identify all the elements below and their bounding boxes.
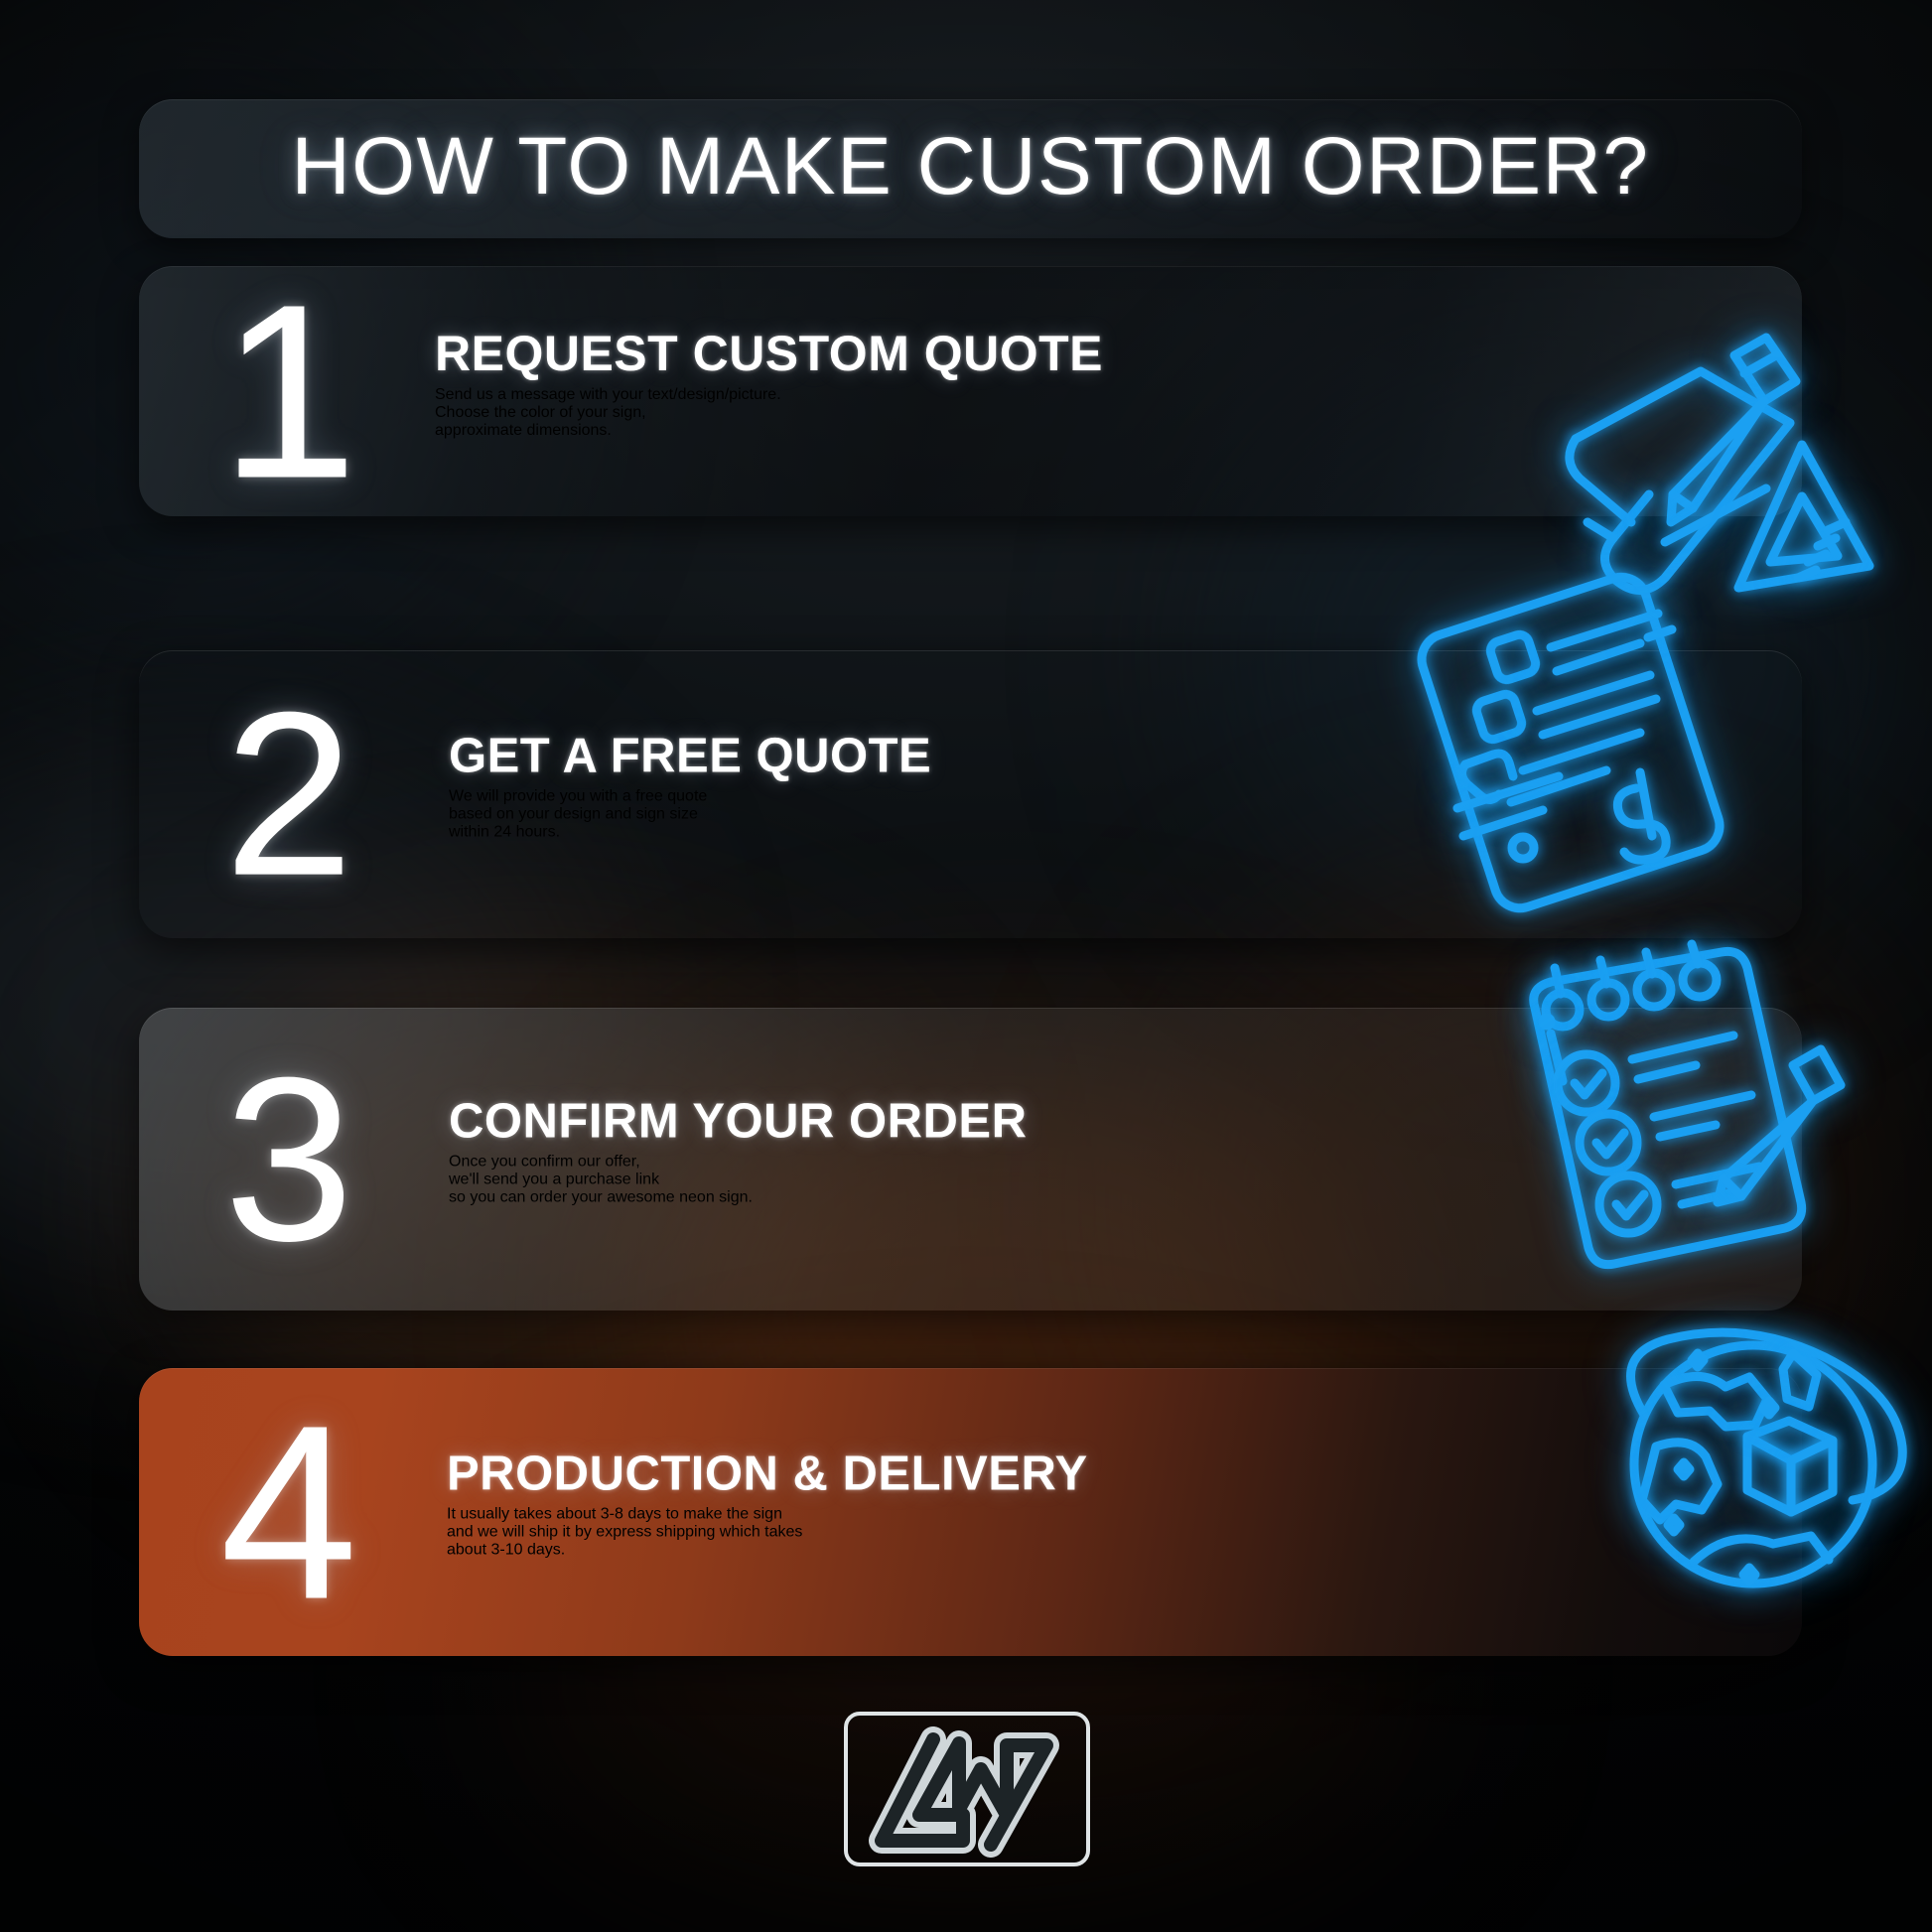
page-title-card: HOW TO MAKE CUSTOM ORDER? [139, 99, 1802, 238]
step-description-line: Choose the color of your sign, [435, 403, 1762, 421]
step-card-4: 4 PRODUCTION & DELIVERY It usually takes… [139, 1368, 1802, 1656]
step-body-1: REQUEST CUSTOM QUOTE Send us a message w… [435, 328, 1762, 456]
step-number-1: 1 [183, 290, 391, 493]
step-title-4: PRODUCTION & DELIVERY [447, 1449, 1762, 1499]
step-description-line: about 3-10 days. [447, 1542, 1762, 1560]
step-body-4: PRODUCTION & DELIVERY It usually takes a… [447, 1449, 1762, 1575]
step-number-2: 2 [183, 699, 391, 891]
step-number-3: 3 [183, 1063, 391, 1255]
step-card-1: 1 REQUEST CUSTOM QUOTE Send us a message… [139, 266, 1802, 516]
step-body-3: CONFIRM YOUR ORDER Once you confirm our … [449, 1096, 1762, 1222]
step-description-line: approximate dimensions. [435, 421, 1762, 439]
step-description-line: so you can order your awesome neon sign. [449, 1188, 1762, 1206]
step-card-3: 3 CONFIRM YOUR ORDER Once you confirm ou… [139, 1008, 1802, 1311]
step-description-line: It usually takes about 3-8 days to make … [447, 1506, 1762, 1524]
step-description-line: within 24 hours. [449, 824, 1762, 842]
step-title-3: CONFIRM YOUR ORDER [449, 1096, 1762, 1147]
step-description-line: we'll send you a purchase link [449, 1171, 1762, 1188]
step-description-line: Send us a message with your text/design/… [435, 385, 1762, 403]
step-title-1: REQUEST CUSTOM QUOTE [435, 328, 1762, 380]
infographic-canvas: HOW TO MAKE CUSTOM ORDER? 1 REQUEST CUST… [0, 0, 1932, 1932]
neon-monogram-logo [842, 1710, 1092, 1868]
step-title-2: GET A FREE QUOTE [449, 731, 1762, 781]
step-body-2: GET A FREE QUOTE We will provide you wit… [449, 731, 1762, 857]
step-description-line: Once you confirm our offer, [449, 1153, 1762, 1171]
step-description-line: and we will ship it by express shipping … [447, 1524, 1762, 1542]
page-title: HOW TO MAKE CUSTOM ORDER? [139, 120, 1802, 213]
step-description-line: We will provide you with a free quote [449, 788, 1762, 806]
step-description-line: based on your design and sign size [449, 806, 1762, 824]
step-number-4: 4 [183, 1411, 391, 1614]
step-card-2: 2 GET A FREE QUOTE We will provide you w… [139, 650, 1802, 938]
